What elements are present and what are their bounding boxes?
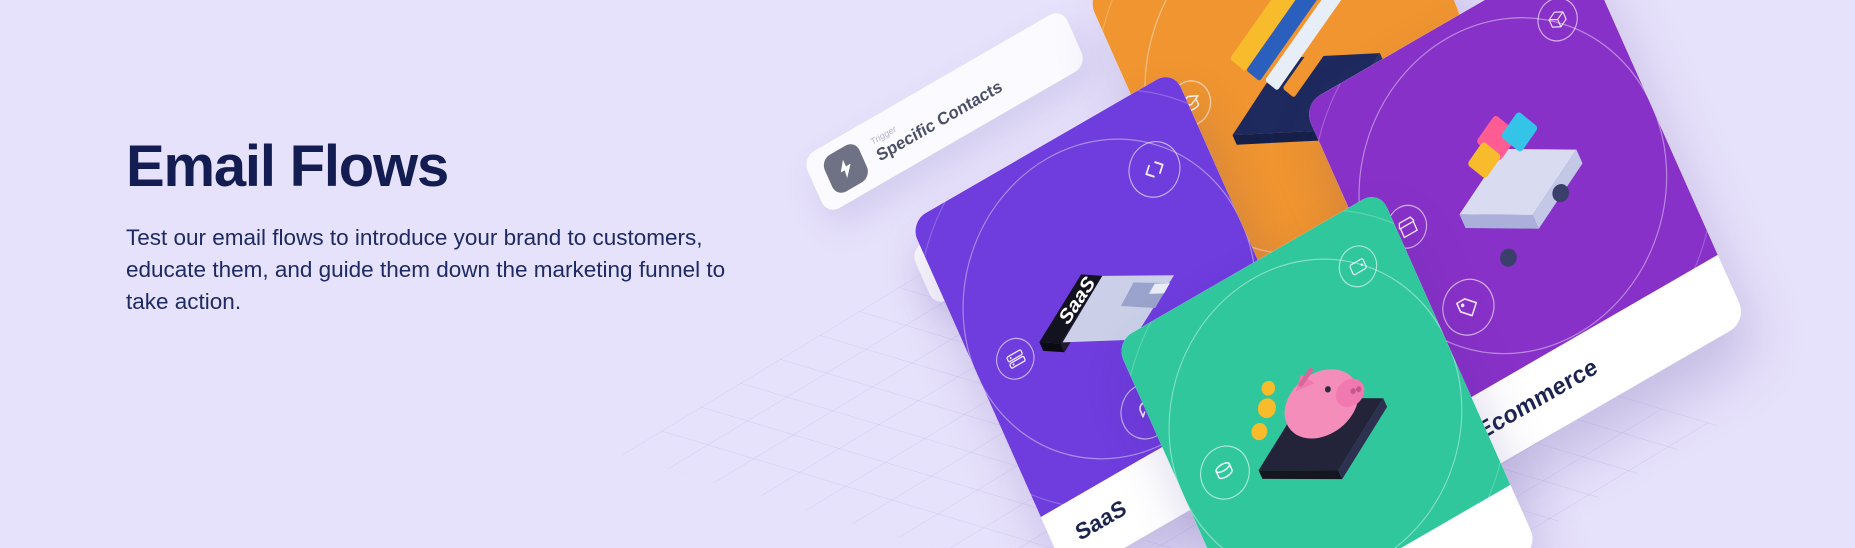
lightning-bolt-icon bbox=[820, 140, 871, 197]
hero-banner: Email Flows Test our email flows to intr… bbox=[0, 0, 1855, 548]
page-title: Email Flows bbox=[126, 138, 826, 196]
hero-copy: Email Flows Test our email flows to intr… bbox=[126, 138, 826, 318]
email-flow-illustration: Trigger Specific Contacts Send Campaign … bbox=[760, 0, 1855, 548]
hero-description: Test our email flows to introduce your b… bbox=[126, 222, 766, 318]
